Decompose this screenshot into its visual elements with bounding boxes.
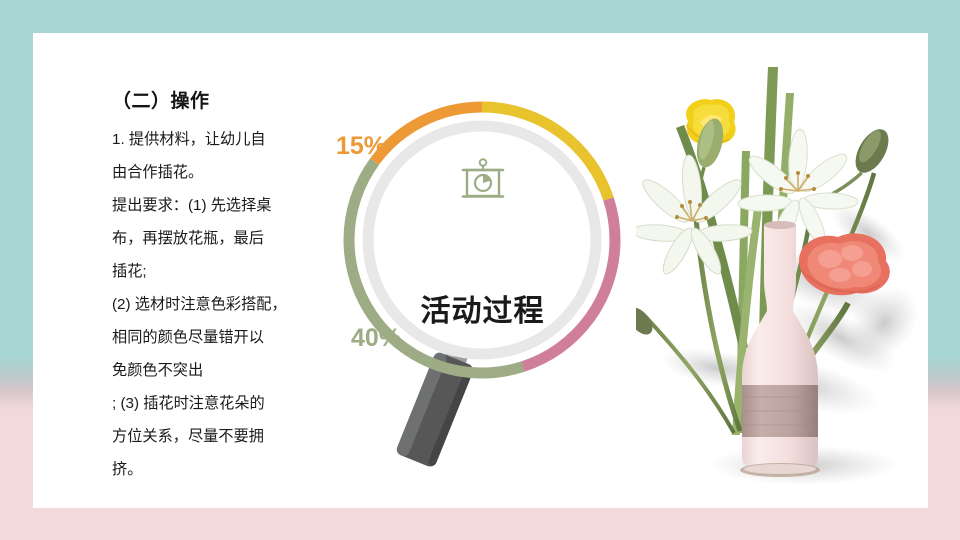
percent-label-15: 15% [336,132,386,161]
green-bud [636,303,657,339]
body-line: (2) 选材时注意色彩搭配， [112,288,344,321]
body-line: 相同的颜色尽量错开以 [112,321,344,354]
section-heading: （二）操作 [112,88,344,117]
body-line: 挤。 [112,453,344,486]
body-line: 提出要求：(1) 先选择桌 [112,189,344,222]
body-line: ; (3) 插花时注意花朵的 [112,387,344,420]
body-text-block: （二）操作 1. 提供材料，让幼儿自 由合作插花。 提出要求：(1) 先选择桌 … [112,88,344,486]
body-line: 方位关系，尽量不要拥 [112,420,344,453]
body-line: 插花; [112,255,344,288]
white-lily-bloom [636,154,752,277]
flower-vase-arrangement [636,33,928,508]
percent-label-40: 40% [351,324,401,353]
body-line: 1. 提供材料，让幼儿自 [112,123,344,156]
presentation-board-pie-chart-icon [330,158,635,211]
body-line: 布，再摆放花瓶，最后 [112,222,344,255]
body-line: 免颜色不突出 [112,354,344,387]
body-line: 由合作插花。 [112,156,344,189]
